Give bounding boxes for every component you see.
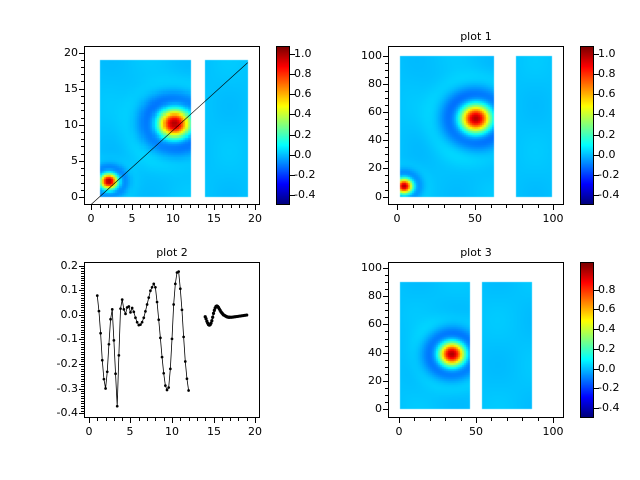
data-point: [142, 316, 145, 319]
data-point: [162, 372, 165, 375]
plot1-xtick-label: 0: [377, 212, 417, 225]
plot2-ytick-minor: [81, 384, 84, 385]
plot2-ytick-minor: [81, 379, 84, 380]
plot1-xtick-major: [397, 205, 398, 210]
plot0-ytick-minor: [81, 110, 84, 111]
plot3-ytick-minor: [385, 374, 388, 375]
plot2-ytick-label: -0.4: [36, 406, 78, 419]
plot1-colorbar-label: -0.4: [598, 188, 619, 201]
plot1-ytick-minor: [385, 119, 388, 120]
plot1-ytick-major: [383, 140, 388, 141]
plot2-ytick-major: [79, 315, 84, 316]
plot2-ytick-minor: [81, 312, 84, 313]
plot2-ytick-minor: [81, 374, 84, 375]
plot2-ytick-minor: [81, 391, 84, 392]
plot3-colorbar-label: 0.0: [598, 362, 616, 375]
plot0-xtick-minor: [100, 205, 101, 208]
plot2-ytick-label: 0.2: [36, 259, 78, 272]
plot1-ytick-major: [383, 84, 388, 85]
plot1-colorbar-label: 1.0: [598, 47, 616, 60]
plot2-ytick-minor: [81, 293, 84, 294]
plot1-xtick-minor: [538, 205, 539, 208]
plot2-ytick-minor: [81, 376, 84, 377]
plot1-ytick-minor: [385, 70, 388, 71]
plot0-diagonal-line: [84, 46, 260, 205]
data-point: [186, 377, 189, 380]
data-point: [123, 308, 126, 311]
data-point: [99, 332, 102, 335]
plot1-ytick-minor: [385, 126, 388, 127]
plot2-ytick-major: [79, 413, 84, 414]
plot2-xtick-minor: [155, 418, 156, 421]
plot3-xtick-minor: [430, 418, 431, 421]
plot2-ytick-major: [79, 339, 84, 340]
plot3-xtick-minor: [445, 418, 446, 421]
plot0-colorbar-label: -0.4: [294, 188, 315, 201]
plot3-colorbar-label: 0.4: [598, 322, 616, 335]
plot1-ytick-minor: [385, 133, 388, 134]
plot0-ytick-minor: [81, 139, 84, 140]
plot3-colorbar-label: 0.8: [598, 283, 616, 296]
plot2-ytick-minor: [81, 344, 84, 345]
plot0-xtick-minor: [124, 205, 125, 208]
plot1-ytick-minor: [385, 63, 388, 64]
data-point: [103, 378, 106, 381]
plot3-xtick-major: [476, 418, 477, 423]
plot3-xtick-minor: [414, 418, 415, 421]
data-point: [172, 303, 175, 306]
plot2-ytick-minor: [81, 317, 84, 318]
plot2-ytick-minor: [81, 322, 84, 323]
plot0-xtick-label: 5: [112, 212, 152, 225]
plot3-ytick-label: 60: [340, 317, 382, 330]
plot3-ytick-minor: [385, 367, 388, 368]
plot2-ytick-minor: [81, 288, 84, 289]
data-point: [211, 316, 214, 319]
plot3-colorbar-label: -0.2: [598, 381, 619, 394]
plot2-ytick-label: -0.2: [36, 357, 78, 370]
plot1-ytick-minor: [385, 190, 388, 191]
plot0-xtick-label: 20: [235, 212, 275, 225]
plot1-ytick-major: [383, 112, 388, 113]
plot1-colorbar-label: 0.6: [598, 87, 616, 100]
plot1-ytick-minor: [385, 147, 388, 148]
data-point: [111, 308, 114, 311]
plot2-xtick-minor: [230, 418, 231, 421]
plot0-xtick-major: [132, 205, 133, 210]
plot3-ytick-minor: [385, 289, 388, 290]
data-point: [174, 283, 177, 286]
plot3-colorbar-label: -0.4: [598, 401, 619, 414]
plot3-ytick-major: [383, 324, 388, 325]
plot3-ytick-major: [383, 296, 388, 297]
plot0-xtick-minor: [165, 205, 166, 208]
plot1-ytick-major: [383, 168, 388, 169]
data-point: [161, 356, 164, 359]
plot2-xtick-label: 20: [235, 425, 275, 438]
data-point: [159, 337, 162, 340]
data-point: [136, 321, 139, 324]
plot0-xtick-major: [173, 205, 174, 210]
plot0-ytick-minor: [81, 168, 84, 169]
plot2-xtick-minor: [147, 418, 148, 421]
plot3-ytick-label: 100: [340, 261, 382, 274]
plot2-xtick-minor: [164, 418, 165, 421]
plot3-ytick-minor: [385, 395, 388, 396]
data-point: [109, 318, 112, 321]
data-point: [245, 313, 248, 316]
plot2-ytick-minor: [81, 371, 84, 372]
data-point: [104, 387, 107, 390]
data-point: [156, 301, 159, 304]
plot2-ytick-minor: [81, 361, 84, 362]
plot3-xtick-major: [399, 418, 400, 423]
data-point: [129, 311, 132, 314]
plot0-colorbar-label: 0.4: [294, 107, 312, 120]
plot0-ytick-minor: [81, 146, 84, 147]
data-point: [149, 289, 152, 292]
plot2-ytick-minor: [81, 334, 84, 335]
data-point: [134, 316, 137, 319]
plot3-ytick-minor: [385, 360, 388, 361]
plot2-ytick-minor: [81, 330, 84, 331]
plot0-ytick-major: [79, 161, 84, 162]
plot1-xtick-major: [475, 205, 476, 210]
data-point: [114, 372, 117, 375]
plot1-title: plot 1: [396, 30, 556, 43]
data-point: [144, 310, 147, 313]
plot1-xtick-label: 100: [533, 212, 573, 225]
data-point: [98, 310, 101, 313]
plot2-xtick-label: 15: [194, 425, 234, 438]
plot1-ytick-minor: [385, 91, 388, 92]
plot0-xtick-minor: [108, 205, 109, 208]
plot3-ytick-minor: [385, 331, 388, 332]
plot0-ytick-minor: [81, 60, 84, 61]
data-point: [132, 311, 135, 314]
data-point: [169, 368, 172, 371]
plot2-ytick-minor: [81, 354, 84, 355]
plot3-xtick-minor: [538, 418, 539, 421]
plot2-ytick-minor: [81, 411, 84, 412]
plot0-xtick-minor: [149, 205, 150, 208]
plot3-ytick-minor: [385, 402, 388, 403]
plot3-ytick-minor: [385, 339, 388, 340]
plot3-ytick-label: 20: [340, 374, 382, 387]
data-point: [147, 296, 150, 299]
plot2-xtick-minor: [205, 418, 206, 421]
plot0-xtick-minor: [239, 205, 240, 208]
plot0-ytick-minor: [81, 154, 84, 155]
plot0-ytick-label: 0: [36, 190, 78, 203]
plot0-ytick-major: [79, 89, 84, 90]
plot2-ytick-minor: [81, 307, 84, 308]
plot3-xtick-label: 50: [456, 425, 496, 438]
plot3-ytick-major: [383, 353, 388, 354]
data-point: [181, 309, 184, 312]
plot2-ytick-minor: [81, 300, 84, 301]
plot2-xtick-minor: [197, 418, 198, 421]
plot3-ytick-minor: [385, 282, 388, 283]
plot3-xtick-minor: [507, 418, 508, 421]
plot0-xtick-minor: [116, 205, 117, 208]
plot1-ytick-minor: [385, 175, 388, 176]
data-point: [124, 312, 127, 315]
plot2-ytick-minor: [81, 273, 84, 274]
plot3-ytick-major: [383, 409, 388, 410]
plot3-heatmap: [389, 263, 563, 417]
plot2-xtick-minor: [247, 418, 248, 421]
plot0-xtick-major: [214, 205, 215, 210]
plot2-xtick-major: [214, 418, 215, 423]
plot2-ytick-label: -0.1: [36, 332, 78, 345]
plot1-ytick-label: 0: [340, 190, 382, 203]
plot1-ytick-label: 40: [340, 133, 382, 146]
plot3-colorbar-label: 0.6: [598, 302, 616, 315]
plot2-ytick-minor: [81, 347, 84, 348]
plot0-xtick-minor: [190, 205, 191, 208]
plot1-xtick-major: [553, 205, 554, 210]
plot2-ytick-minor: [81, 381, 84, 382]
plot2-ytick-minor: [81, 359, 84, 360]
data-point: [210, 319, 213, 322]
plot3-ytick-minor: [385, 303, 388, 304]
data-point: [166, 389, 169, 392]
data-point: [154, 286, 157, 289]
plot2-ytick-minor: [81, 337, 84, 338]
plot2-xtick-minor: [180, 418, 181, 421]
plot2-xtick-minor: [97, 418, 98, 421]
plot0-ytick-minor: [81, 103, 84, 104]
plot2-ytick-minor: [81, 401, 84, 402]
plot0-ytick-minor: [81, 118, 84, 119]
data-point: [146, 303, 149, 306]
plot0-xtick-minor: [157, 205, 158, 208]
plot2-xtick-major: [130, 418, 131, 423]
plot3-xtick-label: 0: [379, 425, 419, 438]
plot3-colorbar: [580, 262, 594, 418]
data-point: [139, 323, 142, 326]
plot3-ytick-minor: [385, 346, 388, 347]
plot2-lines: [85, 263, 259, 417]
plot1-ytick-major: [383, 197, 388, 198]
plot1-ytick-label: 60: [340, 105, 382, 118]
plot2-ytick-minor: [81, 268, 84, 269]
plot2-xtick-label: 10: [152, 425, 192, 438]
plot0-ytick-minor: [81, 190, 84, 191]
plot2-xtick-label: 0: [69, 425, 109, 438]
plot3-ytick-label: 40: [340, 346, 382, 359]
plot2-ytick-minor: [81, 303, 84, 304]
data-point: [119, 307, 122, 310]
data-point: [157, 318, 160, 321]
plot1-ytick-minor: [385, 182, 388, 183]
plot2-ytick-minor: [81, 342, 84, 343]
plot2-xtick-minor: [106, 418, 107, 421]
plot2-ytick-minor: [81, 369, 84, 370]
plot0-ytick-major: [79, 53, 84, 54]
plot3-xtick-minor: [522, 418, 523, 421]
plot0-ytick-label: 5: [36, 154, 78, 167]
plot1-heatmap: [389, 47, 563, 204]
plot0-xtick-minor: [198, 205, 199, 208]
data-point: [108, 343, 111, 346]
plot2-ytick-minor: [81, 406, 84, 407]
plot2-xtick-major: [255, 418, 256, 423]
plot0-xtick-label: 0: [71, 212, 111, 225]
plot2-xtick-minor: [139, 418, 140, 421]
plot3-colorbar-label: 0.2: [598, 342, 616, 355]
plot0-ytick-minor: [81, 74, 84, 75]
plot2-xtick-label: 5: [110, 425, 150, 438]
plot2-xtick-minor: [222, 418, 223, 421]
plot2-ytick-label: 0.1: [36, 283, 78, 296]
plot1-colorbar-label: 0.0: [598, 148, 616, 161]
plot0-xtick-minor: [181, 205, 182, 208]
data-point: [171, 338, 174, 341]
data-point: [116, 405, 119, 408]
plot0-xtick-minor: [206, 205, 207, 208]
data-point: [177, 270, 180, 273]
data-point: [152, 283, 155, 286]
data-point: [121, 298, 124, 301]
plot0-xtick-minor: [231, 205, 232, 208]
plot2-ytick-label: -0.3: [36, 382, 78, 395]
plot0-xtick-major: [255, 205, 256, 210]
plot3-ytick-major: [383, 381, 388, 382]
plot0-colorbar-label: 0.0: [294, 148, 312, 161]
plot1-xtick-label: 50: [455, 212, 495, 225]
plot1-xtick-minor: [444, 205, 445, 208]
plot2-xtick-minor: [238, 418, 239, 421]
data-point: [118, 354, 121, 357]
plot1-ytick-minor: [385, 105, 388, 106]
data-point: [212, 312, 215, 315]
plot1-xtick-minor: [460, 205, 461, 208]
plot2-ytick-minor: [81, 295, 84, 296]
plot2-ytick-minor: [81, 396, 84, 397]
plot2-xtick-minor: [189, 418, 190, 421]
plot2-ytick-major: [79, 266, 84, 267]
data-point: [131, 307, 134, 310]
plot3-ytick-minor: [385, 317, 388, 318]
plot0-colorbar-label: -0.2: [294, 168, 315, 181]
plot2-ytick-minor: [81, 357, 84, 358]
plot0-xtick-label: 10: [153, 212, 193, 225]
plot1-xtick-minor: [491, 205, 492, 208]
plot2-ytick-major: [79, 290, 84, 291]
plot2-ytick-minor: [81, 278, 84, 279]
data-point: [179, 287, 182, 290]
plot1-colorbar: [580, 46, 594, 205]
plot1-colorbar-label: -0.2: [598, 168, 619, 181]
plot2-ytick-minor: [81, 408, 84, 409]
plot3-ytick-label: 0: [340, 402, 382, 415]
plot3-xtick-label: 100: [533, 425, 573, 438]
data-point: [167, 386, 170, 389]
plot3-title: plot 3: [396, 246, 556, 259]
plot2-xtick-major: [89, 418, 90, 423]
plot0-ytick-minor: [81, 81, 84, 82]
data-point: [184, 360, 187, 363]
plot0-xtick-major: [91, 205, 92, 210]
plot0-ytick-minor: [81, 132, 84, 133]
plot0-ytick-label: 20: [36, 46, 78, 59]
plot2-ytick-minor: [81, 352, 84, 353]
plot2-title: plot 2: [92, 246, 252, 259]
plot2-ytick-minor: [81, 325, 84, 326]
plot2-ytick-minor: [81, 403, 84, 404]
plot0-ytick-minor: [81, 67, 84, 68]
plot2-ytick-minor: [81, 271, 84, 272]
plot2-ytick-minor: [81, 285, 84, 286]
plot0-colorbar-label: 0.2: [294, 128, 312, 141]
data-point: [164, 384, 167, 387]
plot3-ytick-major: [383, 268, 388, 269]
data-point: [113, 339, 116, 342]
data-point: [182, 336, 185, 339]
plot1-ytick-label: 100: [340, 49, 382, 62]
plot0-ytick-minor: [81, 183, 84, 184]
plot2-xtick-major: [172, 418, 173, 423]
data-point: [96, 294, 99, 297]
plot0-ytick-major: [79, 125, 84, 126]
plot1-ytick-minor: [385, 161, 388, 162]
plot2-ytick-minor: [81, 386, 84, 387]
plot2-ytick-minor: [81, 280, 84, 281]
plot3-ytick-minor: [385, 275, 388, 276]
plot0-xtick-minor: [247, 205, 248, 208]
data-point: [187, 389, 190, 392]
plot1-ytick-label: 80: [340, 77, 382, 90]
plot0-ytick-minor: [81, 175, 84, 176]
plot1-colorbar-label: 0.2: [598, 128, 616, 141]
plot2-ytick-label: 0.0: [36, 308, 78, 321]
plot2-ytick-major: [79, 364, 84, 365]
plot0-ytick-label: 10: [36, 118, 78, 131]
plot1-colorbar-label: 0.8: [598, 67, 616, 80]
plot1-colorbar-label: 0.4: [598, 107, 616, 120]
data-point: [141, 321, 144, 324]
plot3-xtick-major: [553, 418, 554, 423]
plot2-ytick-minor: [81, 349, 84, 350]
plot1-xtick-minor: [413, 205, 414, 208]
data-point: [151, 286, 154, 289]
plot0-ytick-label: 15: [36, 82, 78, 95]
plot0-colorbar-label: 0.8: [294, 67, 312, 80]
plot2-ytick-minor: [81, 298, 84, 299]
plot2-ytick-minor: [81, 366, 84, 367]
plot0-xtick-label: 15: [194, 212, 234, 225]
plot2-ytick-minor: [81, 283, 84, 284]
plot2-ytick-minor: [81, 276, 84, 277]
plot1-xtick-minor: [428, 205, 429, 208]
plot1-xtick-minor: [522, 205, 523, 208]
plot1-ytick-minor: [385, 154, 388, 155]
plot3-xtick-minor: [461, 418, 462, 421]
data-point: [127, 305, 130, 308]
figure-canvas: 0510152005101520-0.4-0.20.00.20.40.60.81…: [0, 0, 640, 480]
plot0-ytick-major: [79, 197, 84, 198]
data-point: [106, 370, 109, 373]
plot2-ytick-minor: [81, 398, 84, 399]
plot1-ytick-label: 20: [340, 161, 382, 174]
plot1-xtick-minor: [506, 205, 507, 208]
plot1-ytick-major: [383, 56, 388, 57]
plot2-ytick-minor: [81, 305, 84, 306]
plot3-xtick-minor: [491, 418, 492, 421]
data-point: [101, 359, 104, 362]
